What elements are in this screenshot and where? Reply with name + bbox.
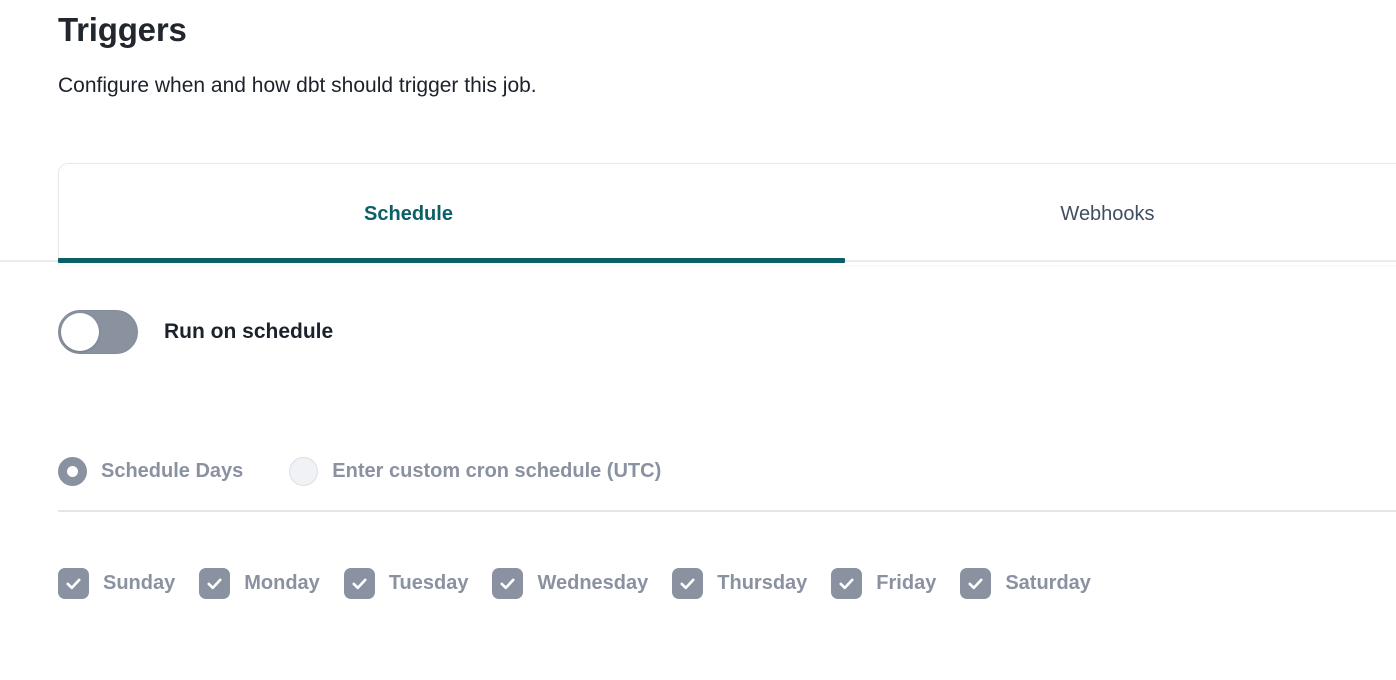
schedule-days-group: Sunday Monday Tuesday Wednesday Thursday: [58, 568, 1091, 599]
tab-schedule[interactable]: Schedule: [59, 164, 758, 264]
section-divider: [58, 510, 1396, 512]
day-label-thursday: Thursday: [717, 572, 807, 595]
day-label-monday: Monday: [244, 572, 320, 595]
checkmark-icon[interactable]: [672, 568, 703, 599]
radio-label-schedule-days: Schedule Days: [101, 460, 243, 483]
run-on-schedule-toggle[interactable]: [58, 310, 138, 354]
radio-unchecked-icon[interactable]: [289, 457, 318, 486]
page-header: Triggers Configure when and how dbt shou…: [58, 8, 1338, 100]
triggers-page: Triggers Configure when and how dbt shou…: [0, 0, 1396, 680]
tab-webhooks[interactable]: Webhooks: [758, 164, 1396, 264]
day-label-friday: Friday: [876, 572, 936, 595]
toggle-knob: [61, 313, 99, 351]
radio-label-custom-cron: Enter custom cron schedule (UTC): [332, 460, 661, 483]
day-checkbox-sunday[interactable]: Sunday: [58, 568, 175, 599]
page-subtitle: Configure when and how dbt should trigge…: [58, 52, 1338, 100]
day-checkbox-friday[interactable]: Friday: [831, 568, 936, 599]
day-label-saturday: Saturday: [1005, 572, 1091, 595]
day-label-sunday: Sunday: [103, 572, 175, 595]
checkmark-icon[interactable]: [199, 568, 230, 599]
tab-webhooks-label: Webhooks: [1060, 203, 1154, 226]
radio-option-schedule-days[interactable]: Schedule Days: [58, 457, 243, 486]
triggers-tab-card: Schedule Webhooks: [58, 163, 1396, 265]
day-checkbox-saturday[interactable]: Saturday: [960, 568, 1091, 599]
day-label-wednesday: Wednesday: [537, 572, 648, 595]
day-label-tuesday: Tuesday: [389, 572, 469, 595]
day-checkbox-thursday[interactable]: Thursday: [672, 568, 807, 599]
day-checkbox-wednesday[interactable]: Wednesday: [492, 568, 648, 599]
run-on-schedule-row: Run on schedule: [58, 310, 333, 354]
radio-dot: [67, 466, 78, 477]
checkmark-icon[interactable]: [831, 568, 862, 599]
tab-schedule-label: Schedule: [364, 203, 453, 226]
schedule-mode-radio-group: Schedule Days Enter custom cron schedule…: [58, 457, 661, 486]
checkmark-icon[interactable]: [960, 568, 991, 599]
day-checkbox-tuesday[interactable]: Tuesday: [344, 568, 469, 599]
run-on-schedule-label: Run on schedule: [164, 320, 333, 344]
checkmark-icon[interactable]: [492, 568, 523, 599]
checkmark-icon[interactable]: [58, 568, 89, 599]
tab-strip: Schedule Webhooks: [59, 164, 1396, 264]
radio-checked-icon[interactable]: [58, 457, 87, 486]
radio-option-custom-cron[interactable]: Enter custom cron schedule (UTC): [289, 457, 661, 486]
tab-active-indicator: [58, 258, 845, 263]
page-title: Triggers: [58, 8, 1338, 52]
day-checkbox-monday[interactable]: Monday: [199, 568, 320, 599]
checkmark-icon[interactable]: [344, 568, 375, 599]
